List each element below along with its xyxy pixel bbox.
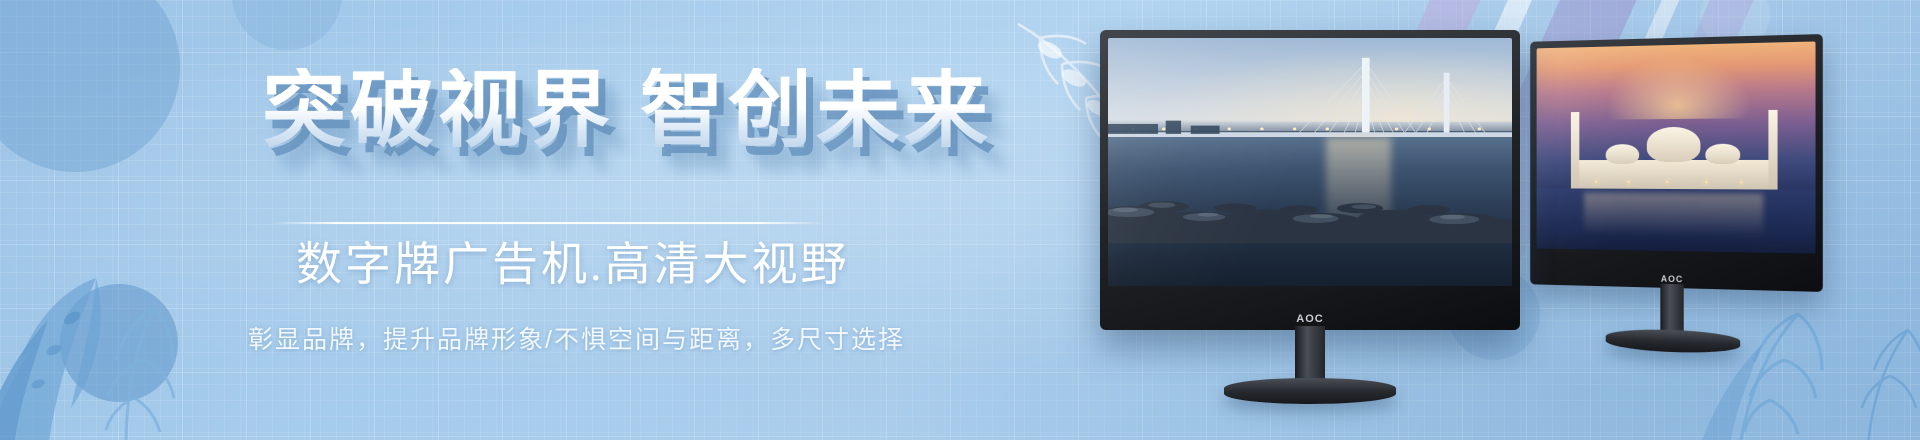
bridge-scene-image	[1108, 38, 1512, 286]
monitor-front-bezel: AOC	[1100, 30, 1520, 330]
headline-part-2: 智创未来	[640, 63, 992, 157]
title-divider	[270, 222, 826, 224]
sunset-glow	[1601, 51, 1757, 120]
mosque-reflection	[1584, 193, 1762, 253]
mosque-light	[1740, 181, 1742, 183]
monitor-rear: AOC	[1530, 34, 1823, 292]
monitor-rear-stand-neck	[1660, 284, 1683, 337]
monitor-rear-stand-base	[1606, 328, 1740, 355]
mosque-light	[1595, 181, 1597, 183]
mosque-dome-right	[1706, 144, 1740, 165]
monitor-front-stand-neck	[1295, 326, 1325, 386]
subtitle: 数字牌广告机.高清大视野	[296, 228, 850, 294]
minaret-right	[1769, 110, 1778, 194]
mosque-scene-image	[1537, 41, 1816, 253]
monitor-rear-bezel: AOC	[1530, 34, 1823, 292]
monitor-front: AOC	[1100, 30, 1520, 330]
copy-block: 突破视界智创未来 数字牌广告机.高清大视野 彰显品牌，提升品牌形象/不惧空间与距…	[0, 0, 1080, 440]
tagline: 彰显品牌，提升品牌形象/不惧空间与距离，多尺寸选择	[248, 320, 905, 356]
monitor-front-screen	[1108, 38, 1512, 286]
brand-logo-front: AOC	[1296, 313, 1323, 325]
brand-logo-rear: AOC	[1661, 274, 1683, 285]
foreground-rocks	[1108, 167, 1512, 286]
product-showcase: AOC	[1060, 0, 1920, 440]
headline-part-1: 突破视界	[262, 63, 614, 157]
promo-banner: 突破视界智创未来 数字牌广告机.高清大视野 彰显品牌，提升品牌形象/不惧空间与距…	[0, 0, 1920, 440]
page-title: 突破视界智创未来	[262, 68, 992, 152]
monitor-front-stand-base	[1224, 378, 1396, 404]
mosque-dome-left	[1606, 144, 1639, 164]
mosque-dome-center	[1647, 127, 1700, 162]
monitor-rear-screen	[1537, 41, 1816, 253]
